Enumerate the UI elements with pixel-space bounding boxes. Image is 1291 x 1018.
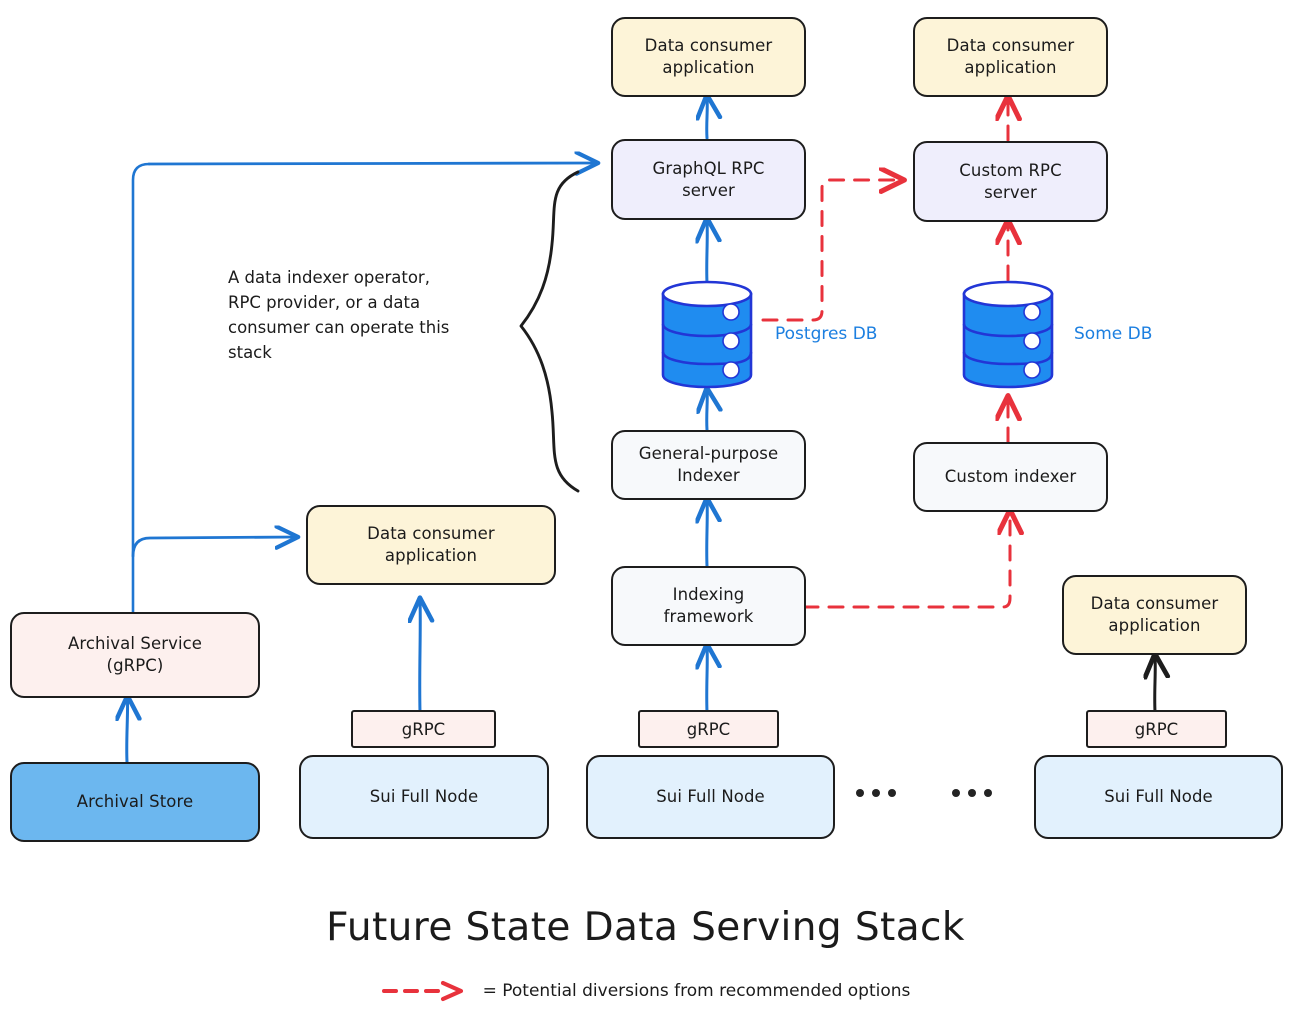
node-label: Sui Full Node (648, 786, 773, 808)
node-sui-full-node-3[interactable]: Sui Full Node (1034, 755, 1283, 839)
arrow-general-indexer-to-postgres (707, 390, 708, 430)
node-sui-full-node-2[interactable]: Sui Full Node (586, 755, 835, 839)
badge-label: gRPC (687, 720, 730, 739)
database-some-db[interactable] (956, 278, 1060, 391)
node-data-consumer-application-right[interactable]: Data consumer application (1062, 575, 1247, 655)
ellipsis-right (952, 789, 992, 797)
legend: = Potential diversions from recommended … (0, 980, 1291, 1002)
node-archival-store[interactable]: Archival Store (10, 762, 260, 842)
dashed-red-arrow-icon (381, 980, 473, 1002)
arrow-grpc1-to-consumer (420, 600, 421, 712)
badge-grpc-2[interactable]: gRPC (638, 710, 779, 748)
curly-brace (521, 172, 578, 491)
node-label: Archival Store (69, 791, 202, 813)
node-data-consumer-application-archival[interactable]: Data consumer application (306, 505, 556, 585)
diagram-canvas: Data consumer application Data consumer … (0, 0, 1291, 1018)
database-icon (655, 278, 759, 391)
node-custom-indexer[interactable]: Custom indexer (913, 442, 1108, 512)
node-label: Data consumer application (1083, 593, 1227, 637)
branch-archival-to-consumer (133, 537, 296, 556)
arrow-archival-store-to-service (127, 698, 128, 762)
node-general-purpose-indexer[interactable]: General-purpose Indexer (611, 430, 806, 500)
node-label: GraphQL RPC server (644, 158, 772, 202)
node-custom-rpc-server[interactable]: Custom RPC server (913, 141, 1108, 222)
badge-label: gRPC (402, 720, 445, 739)
arrow-graphql-rpc-to-consumer (707, 97, 708, 138)
arrow-indexing-framework-to-general-indexer (707, 500, 708, 566)
node-sui-full-node-1[interactable]: Sui Full Node (299, 755, 549, 839)
badge-label: gRPC (1135, 720, 1178, 739)
node-graphql-rpc-server[interactable]: GraphQL RPC server (611, 139, 806, 220)
node-data-consumer-application-custom[interactable]: Data consumer application (913, 17, 1108, 97)
arrow-grpc2-to-indexing-framework (707, 646, 708, 712)
node-label: Data consumer application (637, 35, 781, 79)
node-archival-service[interactable]: Archival Service (gRPC) (10, 612, 260, 698)
badge-grpc-3[interactable]: gRPC (1086, 710, 1227, 748)
node-data-consumer-application-graphql[interactable]: Data consumer application (611, 17, 806, 97)
annotation-text: A data indexer operator, RPC provider, o… (228, 265, 503, 365)
database-label-postgres: Postgres DB (775, 324, 877, 344)
badge-grpc-1[interactable]: gRPC (351, 710, 496, 748)
node-label: Sui Full Node (1096, 786, 1221, 808)
arrow-grpc3-to-consumer-right (1155, 656, 1156, 712)
node-label: Custom RPC server (951, 160, 1069, 204)
node-label: Indexing framework (656, 584, 762, 628)
database-icon (956, 278, 1060, 391)
database-postgres[interactable] (655, 278, 759, 391)
node-label: General-purpose Indexer (631, 443, 787, 487)
node-indexing-framework[interactable]: Indexing framework (611, 566, 806, 646)
node-label: Custom indexer (937, 466, 1084, 488)
node-label: Sui Full Node (362, 786, 487, 808)
arrow-archival-to-graphql-rpc (149, 163, 596, 164)
page-title: Future State Data Serving Stack (0, 905, 1291, 950)
ellipsis-left (856, 789, 896, 797)
node-label: Data consumer application (359, 523, 503, 567)
node-label: Archival Service (gRPC) (60, 633, 210, 677)
database-label-some-db: Some DB (1074, 324, 1152, 344)
rail-archival-service-up (133, 164, 149, 612)
legend-text: = Potential diversions from recommended … (483, 981, 911, 1001)
node-label: Data consumer application (939, 35, 1083, 79)
arrow-postgres-to-graphql-rpc (707, 220, 708, 283)
arrow-indexing-framework-to-custom-indexer (804, 512, 1010, 607)
